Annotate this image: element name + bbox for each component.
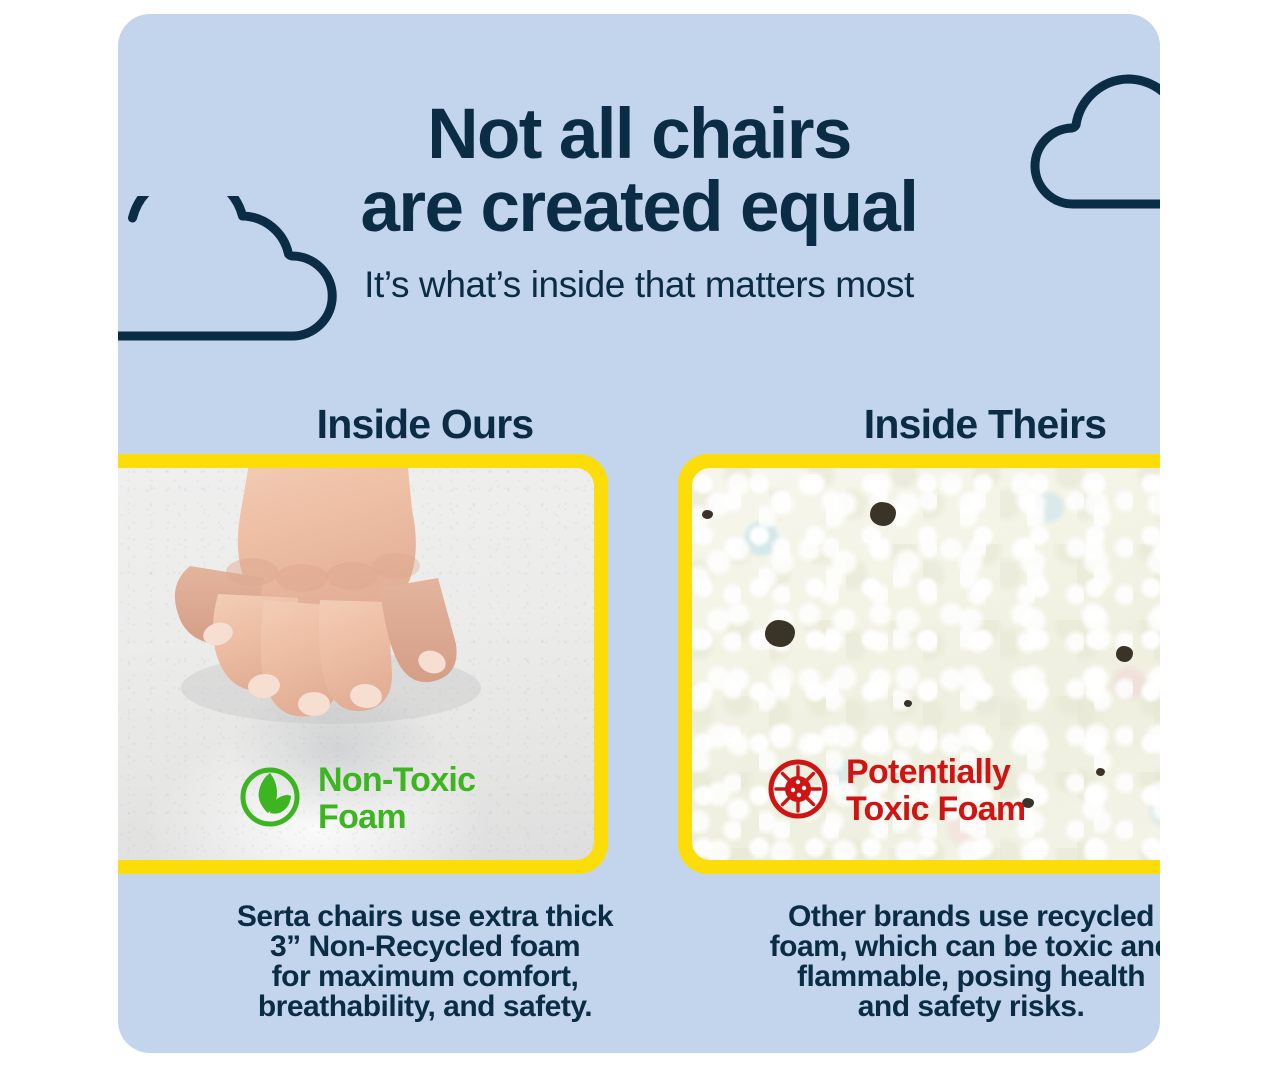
- germ-icon: [766, 757, 830, 826]
- hand-photo: [156, 468, 496, 746]
- badge-non-toxic: Non-Toxic Foam: [238, 762, 475, 836]
- badge-potentially-toxic-label: Potentially Toxic Foam: [846, 754, 1025, 828]
- column-heading-theirs: Inside Theirs: [678, 400, 1160, 448]
- panel-theirs: Potentially Toxic Foam: [678, 454, 1160, 874]
- infographic-stage: Not all chairs are created equal It’s wh…: [0, 0, 1280, 1073]
- headline-line-1: Not all chairs: [427, 95, 850, 174]
- page-subtitle: It’s what’s inside that matters most: [118, 263, 1160, 307]
- panel-theirs-image: Potentially Toxic Foam: [692, 468, 1160, 860]
- panel-ours: Non-Toxic Foam: [118, 454, 608, 874]
- badge-potentially-toxic: Potentially Toxic Foam: [766, 754, 1025, 828]
- headline-line-2: are created equal: [118, 171, 1160, 244]
- infographic-card: Not all chairs are created equal It’s wh…: [118, 14, 1160, 1053]
- leaf-icon: [238, 765, 302, 834]
- page-title: Not all chairs are created equal: [118, 98, 1160, 244]
- badge-non-toxic-label: Non-Toxic Foam: [318, 762, 475, 836]
- caption-theirs: Other brands use recycled foam, which ca…: [684, 902, 1160, 1022]
- caption-ours: Serta chairs use extra thick 3” Non-Recy…: [138, 902, 712, 1022]
- panel-ours-image: Non-Toxic Foam: [118, 468, 594, 860]
- column-heading-ours: Inside Ours: [118, 400, 732, 448]
